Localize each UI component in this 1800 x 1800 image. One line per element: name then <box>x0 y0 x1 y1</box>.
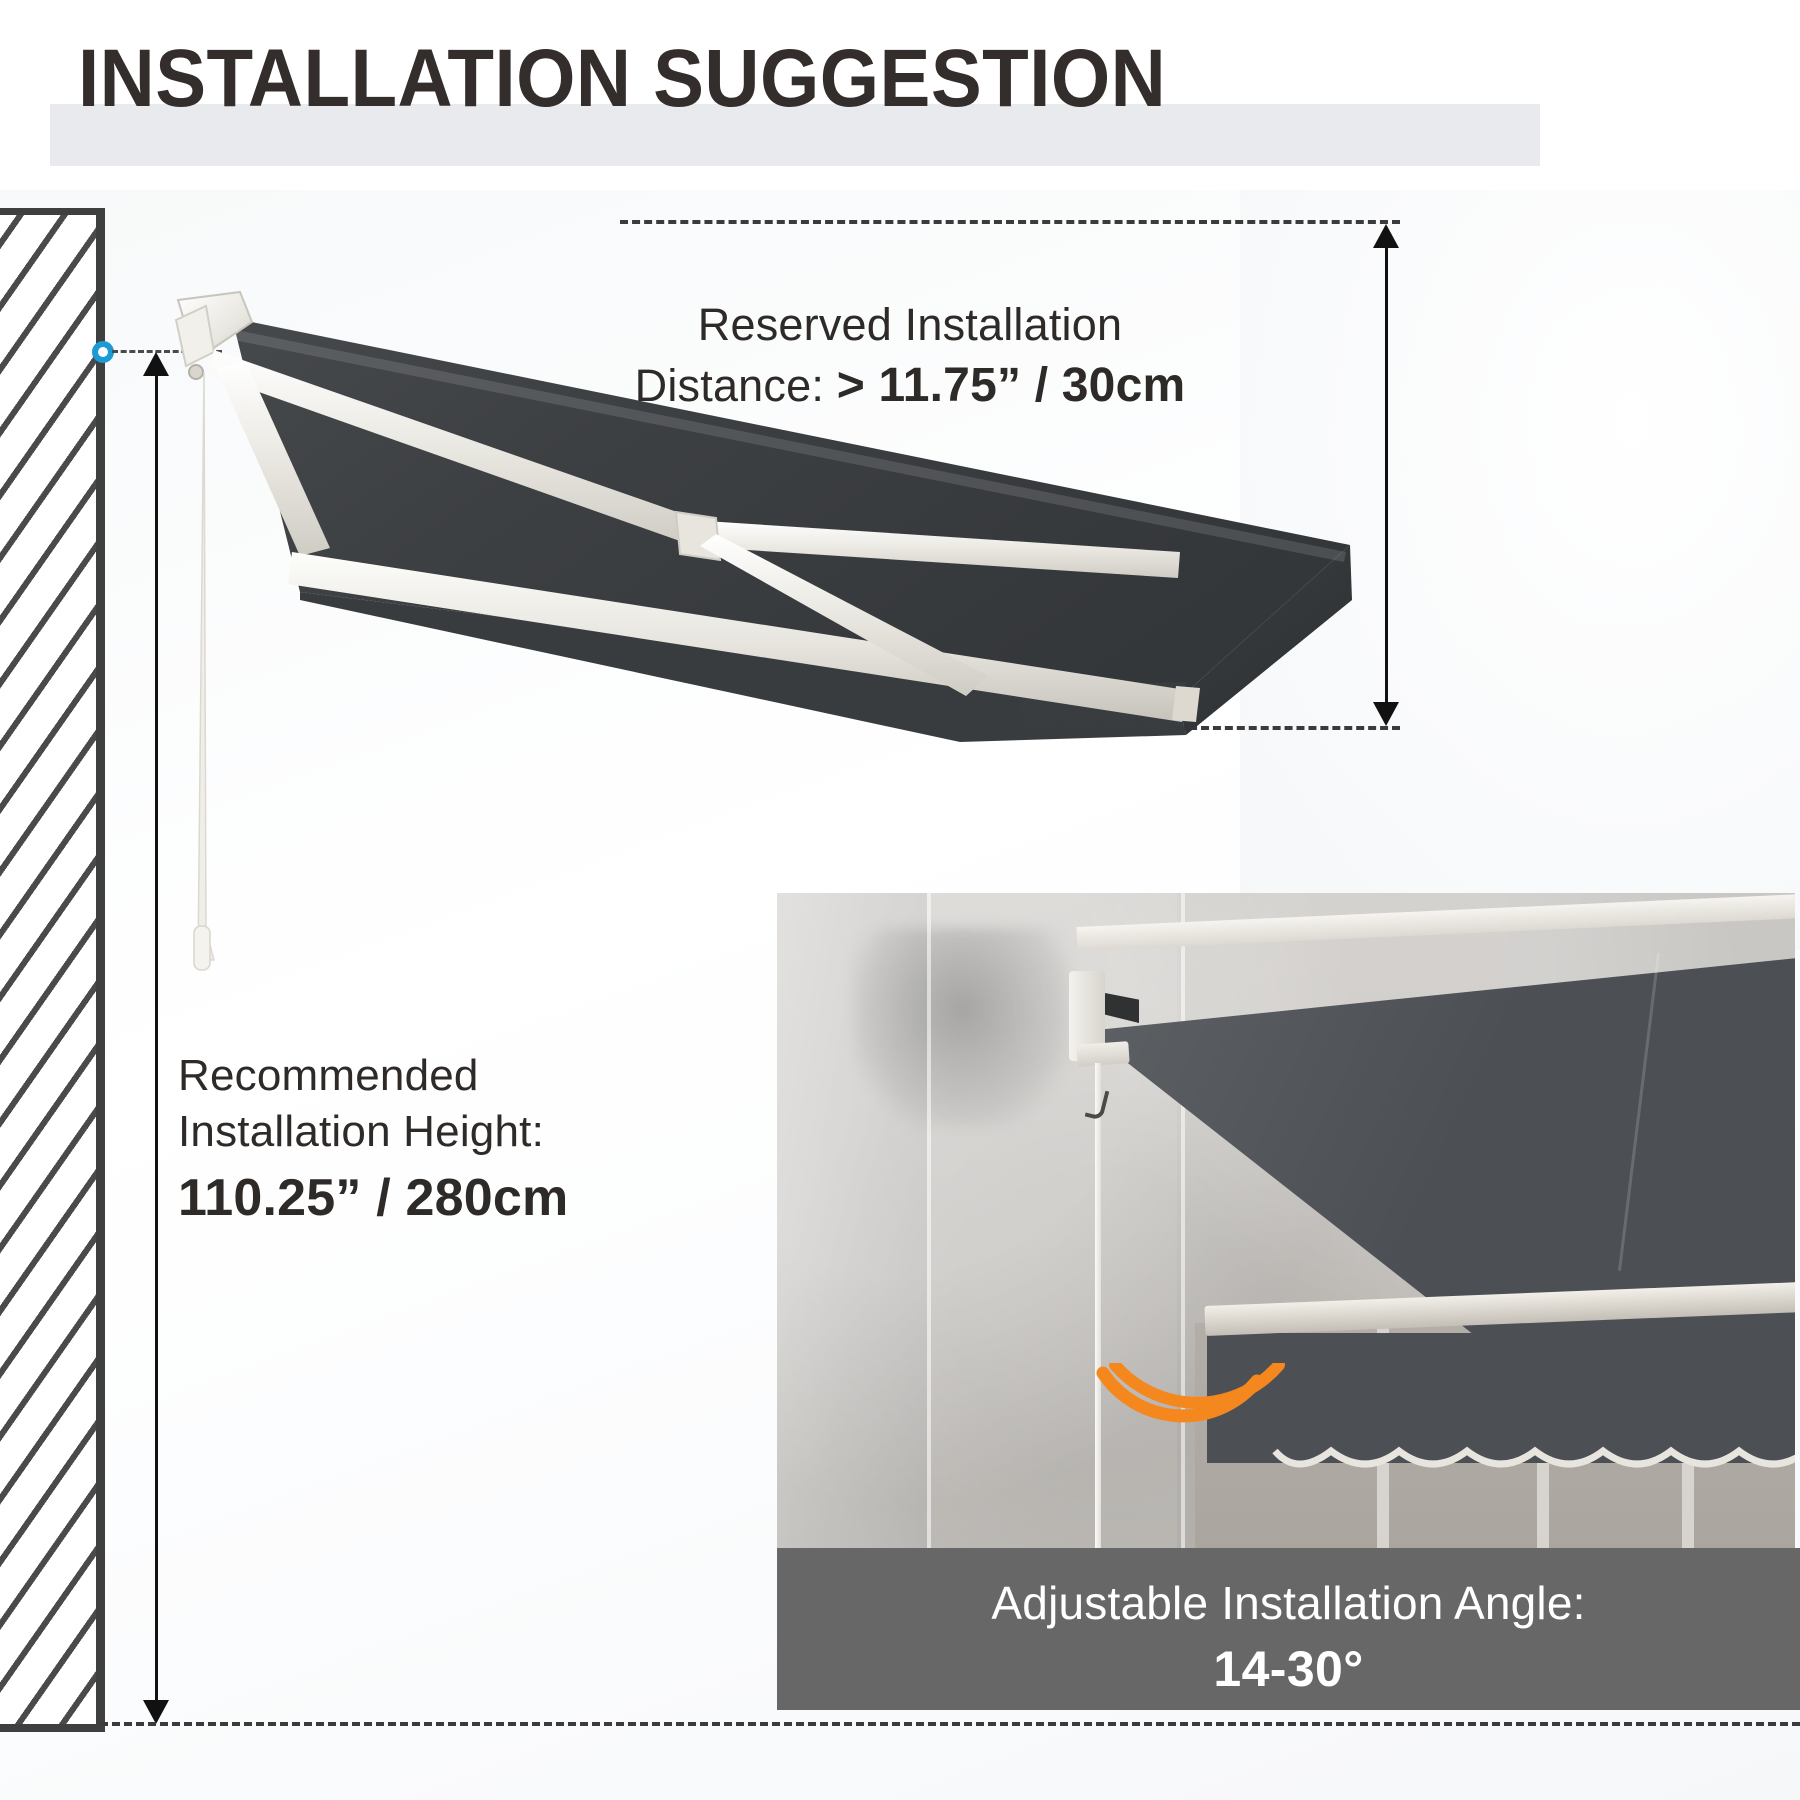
reserved-arrow-down-icon <box>1373 702 1399 726</box>
recommended-height-value: 110.25” / 280cm <box>178 1165 798 1232</box>
recommended-height-line1: Recommended <box>178 1048 798 1104</box>
reserved-distance-line1: Reserved Installation <box>600 296 1220 355</box>
height-dimension-line <box>155 372 158 1702</box>
photo-bracket-arm <box>1076 1041 1129 1067</box>
reserved-distance-value: > 11.75” / 30cm <box>837 359 1186 412</box>
height-arrow-down-icon <box>143 1700 169 1724</box>
photo-crank-rod <box>1095 1063 1101 1583</box>
reserved-dimension-line <box>1385 244 1388 706</box>
wall-section <box>0 212 100 1728</box>
ground-dashed-line <box>100 1722 1800 1726</box>
reserved-top-dashed-line <box>620 220 1400 224</box>
photo-caption-band: Adjustable Installation Angle: 14-30° <box>777 1548 1800 1710</box>
reserved-distance-line2: Distance: > 11.75” / 30cm <box>600 355 1220 417</box>
photo-cast-shadow <box>852 928 1072 1128</box>
wall-edge-bottom <box>0 1724 101 1732</box>
recommended-height-callout: Recommended Installation Height: 110.25”… <box>178 1048 798 1231</box>
angle-arc-icon <box>1089 1363 1309 1493</box>
wall-hatch-pattern <box>0 212 100 1728</box>
reserved-distance-label: Distance: <box>635 360 837 411</box>
photo-wall-seam-1 <box>927 893 931 1583</box>
wall-edge-right <box>96 208 105 1732</box>
wall-edge-top <box>0 208 101 215</box>
reserved-distance-callout: Reserved Installation Distance: > 11.75”… <box>600 296 1220 417</box>
background-highlight <box>1240 190 1800 950</box>
installation-angle-photo: 14-30° <box>777 893 1795 1583</box>
reserved-bottom-dashed-line <box>1010 726 1400 730</box>
caption-value: 14-30° <box>777 1640 1800 1698</box>
infographic-canvas: INSTALLATION SUGGESTION <box>0 0 1800 1800</box>
recommended-height-line2: Installation Height: <box>178 1104 798 1160</box>
caption-label: Adjustable Installation Angle: <box>777 1576 1800 1630</box>
mount-point-marker-icon <box>92 341 114 363</box>
angle-arc-svg <box>1089 1363 1309 1493</box>
page-title: INSTALLATION SUGGESTION <box>78 36 1166 122</box>
